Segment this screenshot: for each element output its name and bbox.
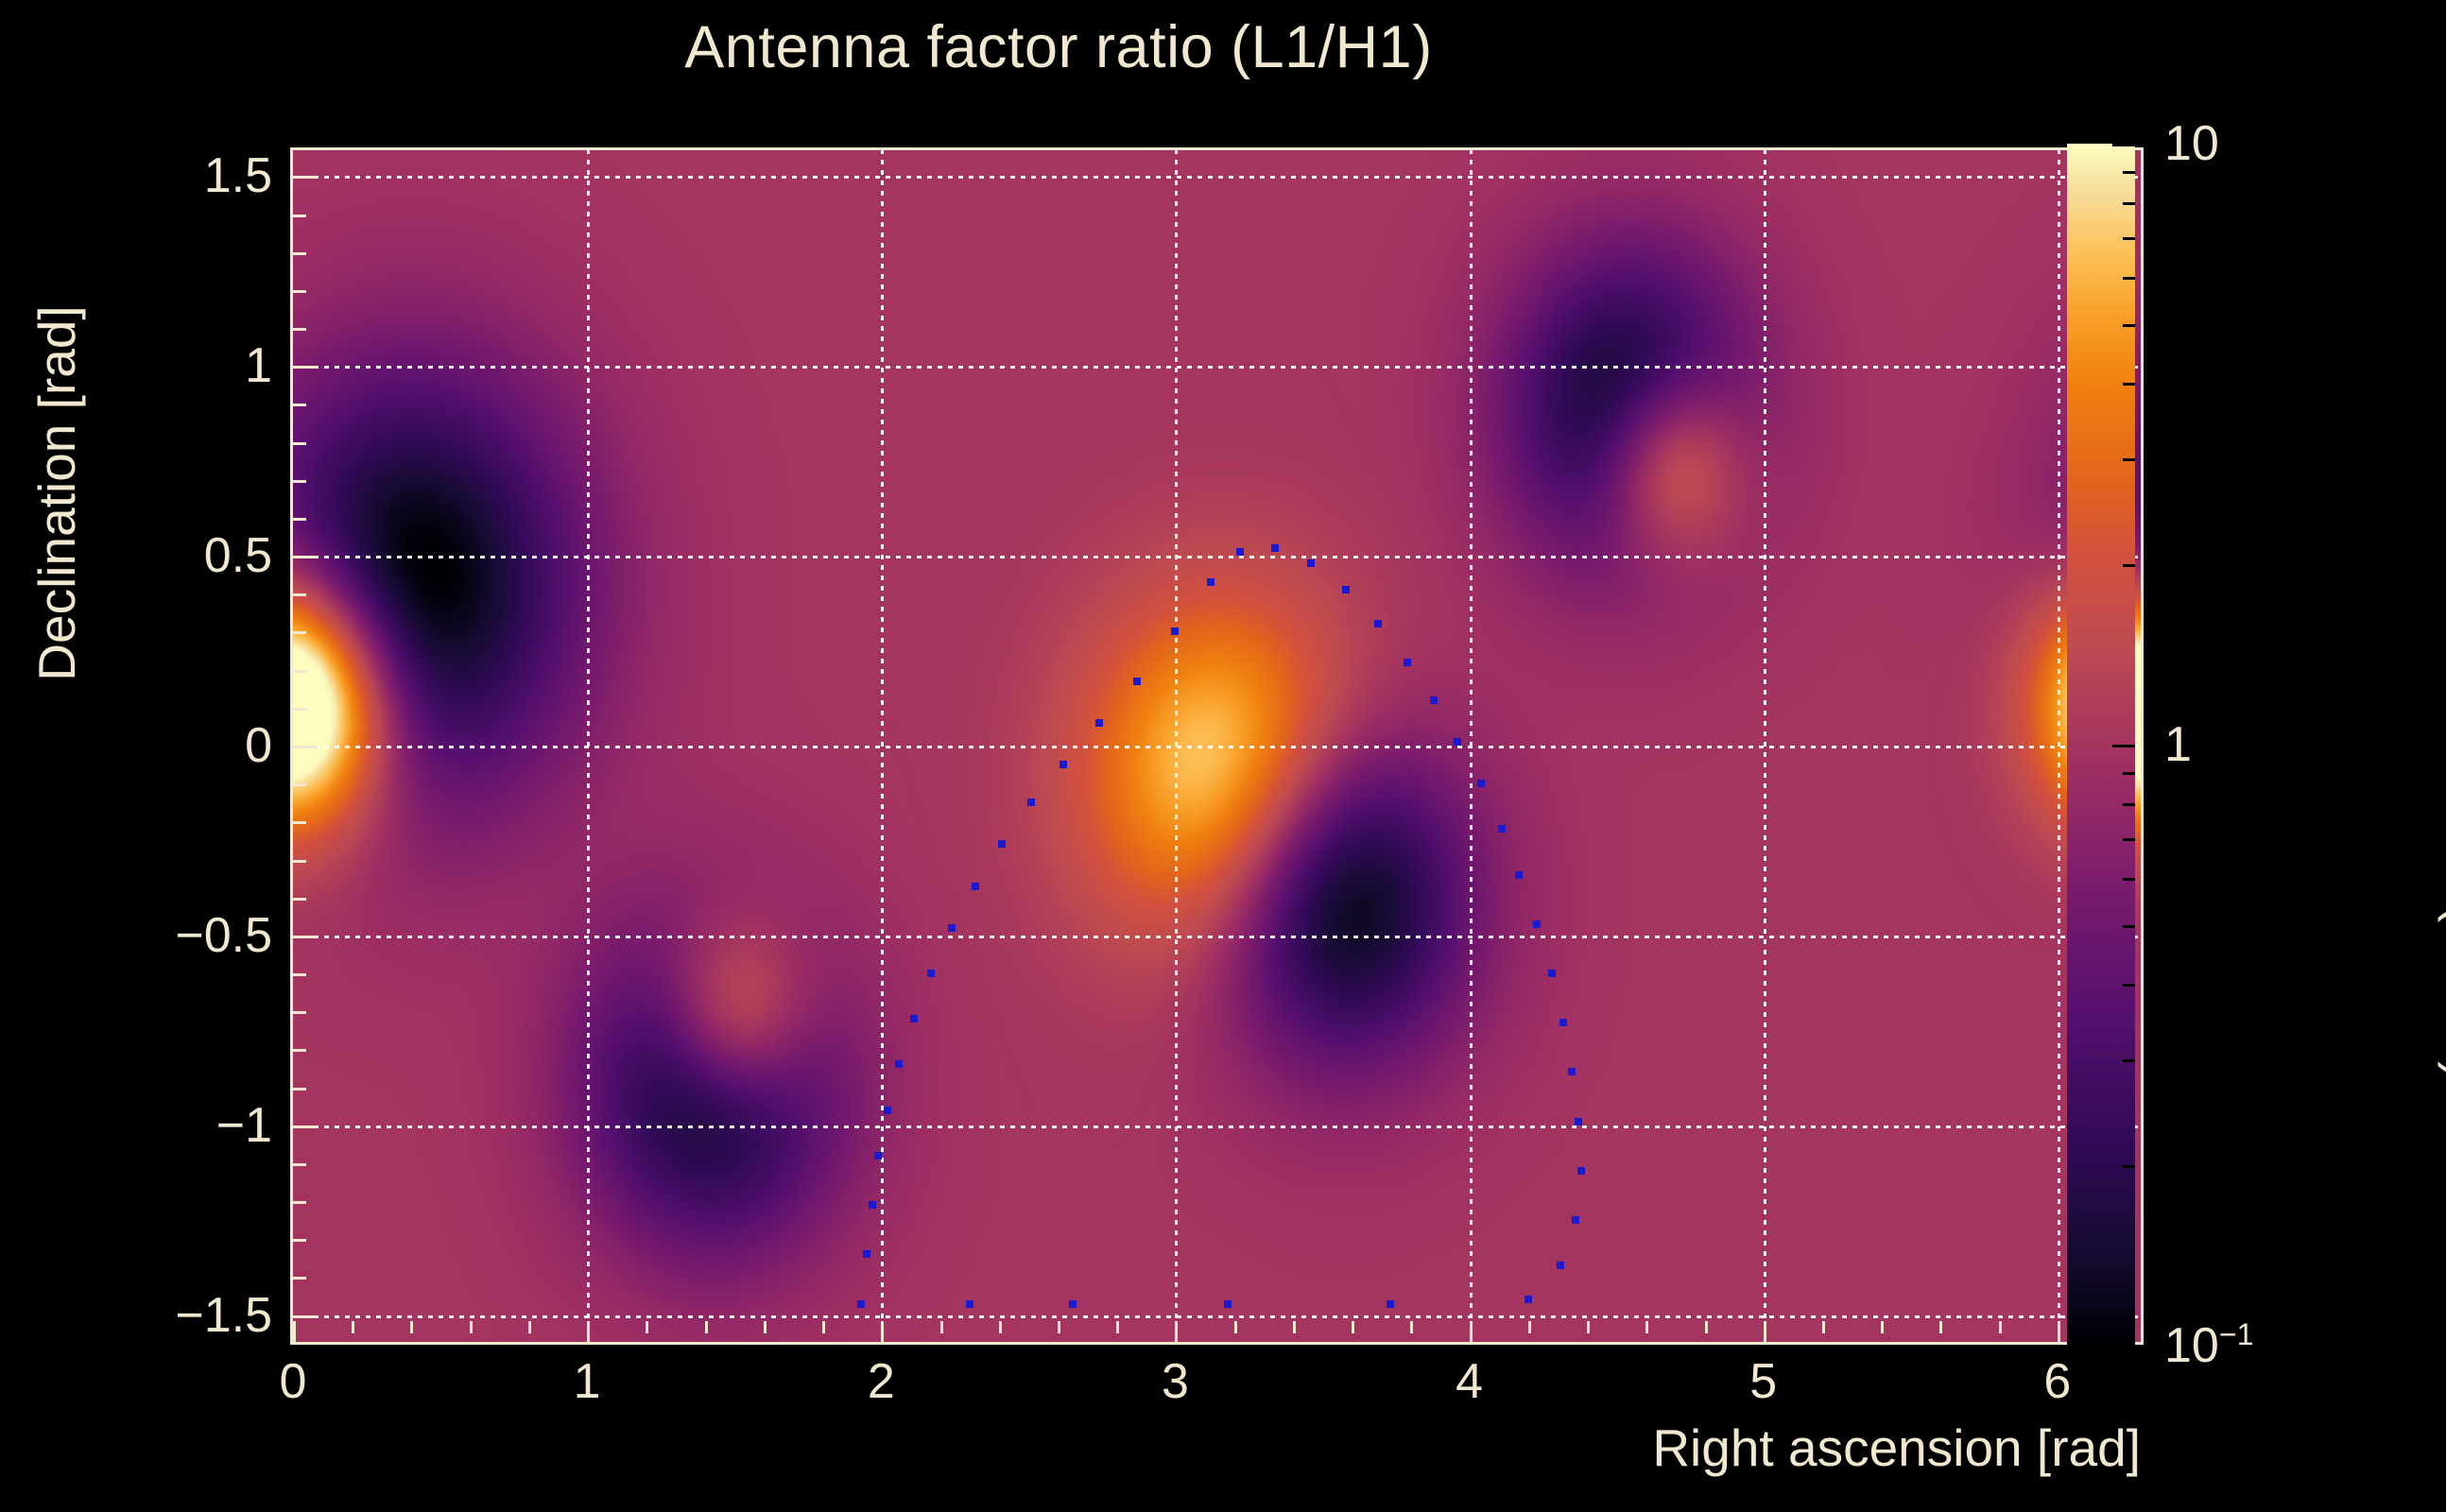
x-tick-label: 6 — [2043, 1353, 2071, 1410]
x-tick-minor — [999, 1321, 1002, 1333]
x-tick-minor — [764, 1321, 767, 1333]
colorbar — [2067, 144, 2135, 1346]
x-tick-major — [1470, 1321, 1473, 1344]
y-tick-minor — [293, 404, 306, 406]
y-tick-major — [293, 366, 318, 369]
x-tick-minor — [1645, 1321, 1648, 1333]
y-tick-major — [293, 556, 318, 558]
x-tick-minor — [410, 1321, 413, 1333]
y-tick-label: 1 — [245, 337, 272, 394]
x-tick-minor — [1587, 1321, 1590, 1333]
x-tick-minor — [1352, 1321, 1354, 1333]
y-tick-label: 1.5 — [204, 147, 272, 204]
y-tick-minor — [293, 898, 306, 901]
colorbar-tick-minor — [2123, 277, 2135, 280]
heatmap-panel — [293, 149, 2141, 1342]
x-tick-minor — [1881, 1321, 1884, 1333]
colorbar-tick-minor — [2123, 458, 2135, 461]
y-tick-label: −1 — [216, 1097, 272, 1154]
heatmap-image — [293, 149, 2141, 1342]
x-tick-minor — [1939, 1321, 1942, 1333]
y-tick-minor — [293, 1277, 306, 1280]
y-tick-minor — [293, 593, 306, 596]
x-tick-label: 4 — [1456, 1353, 1483, 1410]
x-tick-minor — [1705, 1321, 1708, 1333]
y-tick-minor — [293, 518, 306, 521]
y-tick-label: 0 — [245, 717, 272, 774]
y-tick-major — [293, 1315, 318, 1318]
colorbar-tick-minor — [2123, 237, 2135, 240]
x-tick-minor — [1293, 1321, 1296, 1333]
x-axis-title: Right ascension [rad] — [1196, 1417, 2141, 1478]
colorbar-tick-label: 10−1 — [2164, 1317, 2254, 1374]
top-frame-line — [290, 147, 2144, 150]
colorbar-tick-minor — [2123, 383, 2135, 386]
x-tick-label: 0 — [280, 1353, 307, 1410]
x-tick-minor — [1234, 1321, 1237, 1333]
x-tick-major — [1764, 1321, 1766, 1344]
y-tick-label: −0.5 — [175, 907, 272, 964]
right-frame-line — [2141, 147, 2144, 1344]
y-tick-minor — [293, 328, 306, 331]
colorbar-tick-minor — [2123, 202, 2135, 205]
y-tick-minor — [293, 860, 306, 863]
y-tick-major — [293, 936, 318, 938]
y-tick-minor — [293, 631, 306, 634]
y-tick-minor — [293, 290, 306, 293]
x-tick-minor — [1528, 1321, 1531, 1333]
plot-canvas: Antenna factor ratio (L1/H1) 1.510.50−0.… — [0, 0, 2446, 1512]
colorbar-tick-minor — [2123, 171, 2135, 174]
colorbar-tick-major — [2112, 1346, 2135, 1349]
y-axis-title: Declination [rad] — [26, 163, 87, 824]
y-tick-minor — [293, 1239, 306, 1242]
x-tick-label: 1 — [574, 1353, 601, 1410]
y-tick-minor — [293, 783, 306, 786]
y-tick-minor — [293, 1201, 306, 1204]
y-tick-minor — [293, 1163, 306, 1166]
colorbar-tick-label: 10 — [2164, 115, 2219, 172]
x-tick-minor — [1822, 1321, 1825, 1333]
y-tick-label: 0.5 — [204, 527, 272, 584]
colorbar-title: Antenna factor ratio (L1/H1) — [2437, 285, 2446, 1230]
x-tick-major — [881, 1321, 884, 1344]
x-tick-major — [587, 1321, 590, 1344]
colorbar-tick-minor — [2123, 564, 2135, 567]
x-tick-minor — [528, 1321, 531, 1333]
x-tick-minor — [1999, 1321, 2002, 1333]
y-tick-minor — [293, 821, 306, 824]
x-tick-minor — [1116, 1321, 1119, 1333]
colorbar-tick-minor — [2123, 803, 2135, 806]
colorbar-tick-minor — [2123, 878, 2135, 881]
y-tick-minor — [293, 480, 306, 483]
x-tick-minor — [822, 1321, 825, 1333]
x-tick-label: 2 — [868, 1353, 895, 1410]
colorbar-tick-minor — [2123, 1059, 2135, 1062]
colorbar-tick-major — [2112, 745, 2135, 747]
y-tick-minor — [293, 1011, 306, 1014]
x-axis-line — [290, 1342, 2144, 1345]
colorbar-tick-minor — [2123, 324, 2135, 327]
y-tick-minor — [293, 252, 306, 255]
colorbar-tick-major — [2112, 144, 2135, 146]
x-tick-label: 5 — [1749, 1353, 1777, 1410]
x-tick-minor — [1058, 1321, 1060, 1333]
colorbar-tick-minor — [2123, 984, 2135, 987]
x-tick-minor — [1410, 1321, 1413, 1333]
y-tick-minor — [293, 973, 306, 976]
y-tick-minor — [293, 1049, 306, 1052]
x-tick-minor — [352, 1321, 354, 1333]
x-tick-label: 3 — [1162, 1353, 1189, 1410]
x-tick-minor — [705, 1321, 708, 1333]
x-tick-minor — [470, 1321, 473, 1333]
page-title: Antenna factor ratio (L1/H1) — [0, 13, 2117, 81]
y-tick-minor — [293, 442, 306, 445]
colorbar-tick-minor — [2123, 1165, 2135, 1168]
y-tick-minor — [293, 670, 306, 673]
y-tick-minor — [293, 215, 306, 217]
x-tick-minor — [646, 1321, 648, 1333]
colorbar-tick-label: 1 — [2164, 716, 2192, 773]
y-tick-minor — [293, 708, 306, 711]
x-tick-major — [2058, 1321, 2060, 1344]
x-tick-minor — [940, 1321, 943, 1333]
colorbar-tick-minor — [2123, 925, 2135, 928]
y-tick-label: −1.5 — [175, 1287, 272, 1344]
x-tick-major — [293, 1321, 296, 1344]
colorbar-tick-minor — [2123, 772, 2135, 775]
colorbar-tick-minor — [2123, 838, 2135, 841]
y-tick-major — [293, 746, 318, 748]
y-tick-major — [293, 176, 318, 179]
y-tick-major — [293, 1125, 318, 1128]
y-tick-minor — [293, 1088, 306, 1091]
x-tick-major — [1175, 1321, 1178, 1344]
